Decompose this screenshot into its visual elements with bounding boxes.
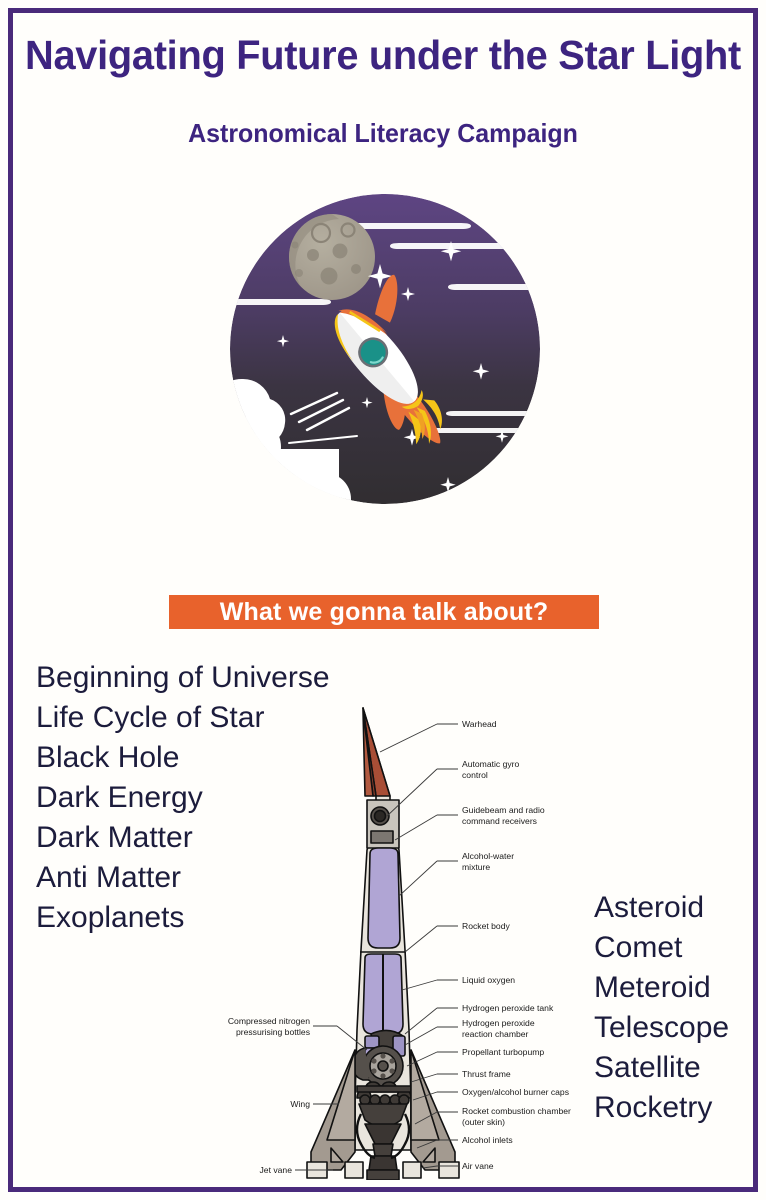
diagram-label: Jet vane <box>215 1165 292 1176</box>
diagram-label: Liquid oxygen <box>462 975 515 986</box>
hero-illustration <box>229 181 541 511</box>
diagram-label: Hydrogen peroxide tank <box>462 1003 553 1014</box>
diagram-label: Thrust frame <box>462 1069 511 1080</box>
page-subtitle: Astronomical Literacy Campaign <box>15 118 750 149</box>
diagram-label: Rocket body <box>462 921 510 932</box>
diagram-label: Propellant turbopump <box>462 1047 544 1058</box>
topics-right-list: Asteroid Comet Meteroid Telescope Satell… <box>594 888 764 1128</box>
diagram-label: Guidebeam and radio command receivers <box>462 805 545 826</box>
list-item: Beginning of Universe <box>36 658 366 698</box>
poster-root: Navigating Future under the Star Light A… <box>0 0 766 1200</box>
section-banner-label: What we gonna talk about? <box>220 598 549 627</box>
diagram-label: Automatic gyro control <box>462 759 519 780</box>
list-item: Telescope <box>594 1008 764 1048</box>
list-item: Satellite <box>594 1048 764 1088</box>
list-item: Asteroid <box>594 888 764 928</box>
diagram-label: Air vane <box>462 1161 494 1172</box>
list-item: Rocketry <box>594 1088 764 1128</box>
diagram-label: Wing <box>215 1099 310 1110</box>
list-item: Meteroid <box>594 968 764 1008</box>
list-item: Comet <box>594 928 764 968</box>
diagram-label: Alcohol inlets <box>462 1135 513 1146</box>
rocket-cutaway-diagram: Warhead Automatic gyro control Guidebeam… <box>215 700 615 1180</box>
diagram-label: Rocket combustion chamber (outer skin) <box>462 1106 571 1127</box>
diagram-label: Alcohol-water mixture <box>462 851 514 872</box>
diagram-label: Oxygen/alcohol burner caps <box>462 1087 569 1098</box>
diagram-label: Hydrogen peroxide reaction chamber <box>462 1018 535 1039</box>
diagram-label: Compressed nitrogen pressurising bottles <box>215 1016 310 1037</box>
section-banner: What we gonna talk about? <box>169 595 599 629</box>
diagram-label: Warhead <box>462 719 497 730</box>
page-title: Navigating Future under the Star Light <box>11 32 754 79</box>
